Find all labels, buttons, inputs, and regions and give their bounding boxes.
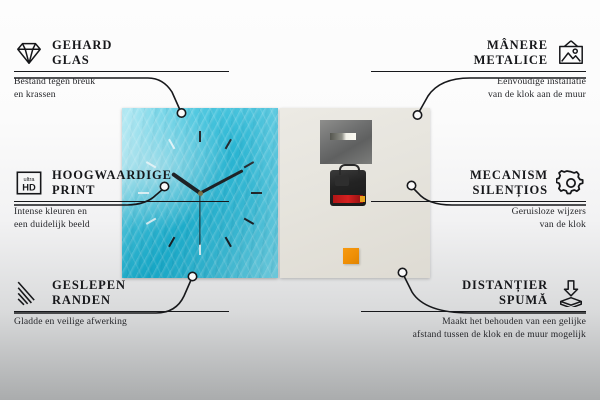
feature-mecanism-silentios: MECANISM SILENȚIOS Geruisloze wijzers va… bbox=[371, 168, 586, 231]
feature-title-line2: GLAS bbox=[52, 53, 112, 68]
gear-icon bbox=[556, 169, 586, 197]
connector-dot-manere-metalice bbox=[413, 111, 421, 119]
feature-title-line2: SPUMĂ bbox=[462, 293, 548, 308]
feature-title-line1: MECANISM bbox=[470, 168, 548, 183]
feature-subtitle: Geruisloze wijzers van de klok bbox=[371, 206, 586, 231]
feature-subtitle: Eenvoudige installatie van de klok aan d… bbox=[371, 76, 586, 101]
feature-rule bbox=[14, 201, 229, 203]
feature-title: MÂNERE METALICE bbox=[474, 38, 548, 68]
feature-head: DISTANȚIER SPUMĂ bbox=[361, 278, 586, 308]
feature-rule bbox=[361, 311, 586, 313]
feature-head: MÂNERE METALICE bbox=[371, 38, 586, 68]
feature-subtitle: Intense kleuren en een duidelijk beeld bbox=[14, 206, 229, 231]
feature-subtitle: Gladde en veilige afwerking bbox=[14, 316, 229, 329]
ultra-hd-icon: ultra HD bbox=[14, 169, 44, 197]
feature-head: GESLEPEN RANDEN bbox=[14, 278, 229, 308]
feature-title-line1: HOOGWAARDIGE bbox=[52, 168, 172, 183]
feature-title-line1: DISTANȚIER bbox=[462, 278, 548, 293]
feature-subtitle-line1: Eenvoudige installatie bbox=[371, 76, 586, 89]
beveled-edges-icon bbox=[14, 279, 44, 307]
feature-rule bbox=[14, 311, 229, 313]
feature-geslepen-randen: GESLEPEN RANDEN Gladde en veilige afwerk… bbox=[14, 278, 229, 329]
feature-subtitle: Bestand tegen breuk en krassen bbox=[14, 76, 229, 101]
feature-subtitle-line2: en krassen bbox=[14, 89, 229, 102]
feature-manere-metalice: MÂNERE METALICE Eenvoudige installatie v… bbox=[371, 38, 586, 101]
feature-rule bbox=[14, 71, 229, 73]
feature-subtitle-line2: afstand tussen de klok en de muur mogeli… bbox=[361, 329, 586, 342]
feature-title: HOOGWAARDIGE PRINT bbox=[52, 168, 172, 198]
feature-title-line2: SILENȚIOS bbox=[470, 183, 548, 198]
infographic-canvas: GEHARD GLAS Bestand tegen breuk en krass… bbox=[0, 0, 600, 400]
feature-title: GEHARD GLAS bbox=[52, 38, 112, 68]
feature-title-line1: GESLEPEN bbox=[52, 278, 126, 293]
feature-hoogwaardige-print: ultra HD HOOGWAARDIGE PRINT Intense kleu… bbox=[14, 168, 229, 231]
connector-dot-distantier-spuma bbox=[398, 268, 406, 276]
feature-title-line2: METALICE bbox=[474, 53, 548, 68]
feature-head: ultra HD HOOGWAARDIGE PRINT bbox=[14, 168, 229, 198]
feature-head: GEHARD GLAS bbox=[14, 38, 229, 68]
feature-subtitle-line2: van de klok bbox=[371, 219, 586, 232]
feature-title: GESLEPEN RANDEN bbox=[52, 278, 126, 308]
feature-subtitle-line1: Intense kleuren en bbox=[14, 206, 229, 219]
feature-subtitle-line2: een duidelijk beeld bbox=[14, 219, 229, 232]
feature-subtitle-line2: van de klok aan de muur bbox=[371, 89, 586, 102]
feature-title-line1: MÂNERE bbox=[474, 38, 548, 53]
feature-title: MECANISM SILENȚIOS bbox=[470, 168, 548, 198]
feature-title: DISTANȚIER SPUMĂ bbox=[462, 278, 548, 308]
feature-subtitle-line1: Gladde en veilige afwerking bbox=[14, 316, 229, 329]
feature-subtitle: Maakt het behouden van een gelijke afsta… bbox=[361, 316, 586, 341]
spacer-arrow-icon bbox=[556, 279, 586, 307]
feature-distantier-spuma: DISTANȚIER SPUMĂ Maakt het behouden van … bbox=[361, 278, 586, 341]
feature-subtitle-line1: Geruisloze wijzers bbox=[371, 206, 586, 219]
picture-hanger-icon bbox=[556, 39, 586, 67]
connector-dot-gehard-glas bbox=[177, 109, 185, 117]
feature-gehard-glas: GEHARD GLAS Bestand tegen breuk en krass… bbox=[14, 38, 229, 101]
feature-subtitle-line1: Bestand tegen breuk bbox=[14, 76, 229, 89]
feature-head: MECANISM SILENȚIOS bbox=[371, 168, 586, 198]
feature-subtitle-line1: Maakt het behouden van een gelijke bbox=[361, 316, 586, 329]
diamond-icon bbox=[14, 39, 44, 67]
feature-rule bbox=[371, 71, 586, 73]
feature-title-line1: GEHARD bbox=[52, 38, 112, 53]
svg-text:HD: HD bbox=[22, 182, 36, 192]
feature-title-line2: PRINT bbox=[52, 183, 172, 198]
feature-rule bbox=[371, 201, 586, 203]
feature-title-line2: RANDEN bbox=[52, 293, 126, 308]
